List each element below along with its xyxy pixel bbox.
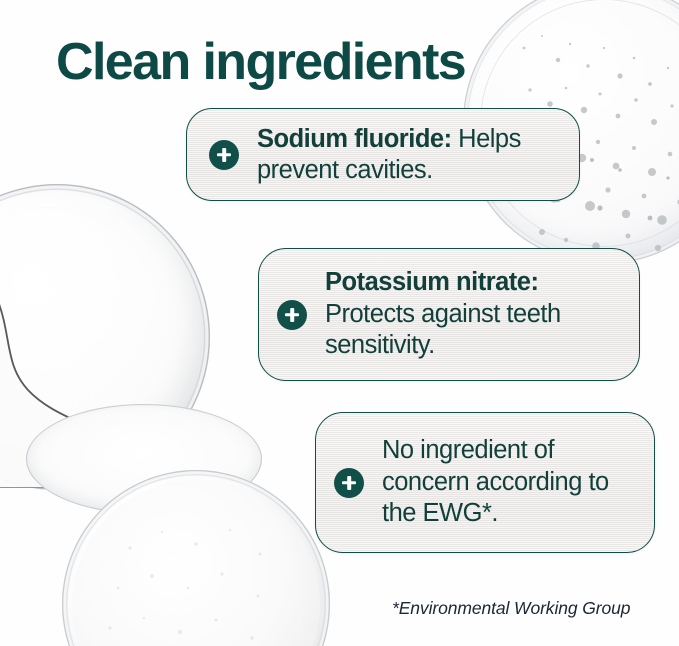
ingredient-name: Sodium fluoride: <box>257 125 452 153</box>
ingredient-card-text: Potassium nitrate: Protects against teet… <box>307 267 639 362</box>
petri-dish-white-powder-icon <box>62 470 330 646</box>
white-powder-texture <box>70 478 322 646</box>
page-title: Clean ingredients <box>56 33 465 91</box>
plus-icon <box>277 300 307 330</box>
ingredient-description: Protects against teeth sensitivity. <box>325 300 561 360</box>
clear-gel-blob <box>0 238 130 488</box>
ingredient-description: No ingredient of concern according to th… <box>382 436 609 527</box>
product-ingredients-infographic: Clean ingredients Sodium fluoride: Helps… <box>0 0 679 646</box>
ingredient-card-text: Sodium fluoride: Helps prevent cavities. <box>239 124 579 185</box>
ingredient-card-sodium-fluoride[interactable]: Sodium fluoride: Helps prevent cavities. <box>186 108 580 201</box>
petri-dish-rim-sliver <box>26 404 262 514</box>
ingredient-card-no-concern[interactable]: No ingredient of concern according to th… <box>315 412 655 553</box>
footnote: *Environmental Working Group <box>392 598 630 619</box>
ingredient-card-text: No ingredient of concern according to th… <box>364 435 654 530</box>
ingredient-card-potassium-nitrate[interactable]: Potassium nitrate: Protects against teet… <box>258 248 640 381</box>
plus-icon <box>209 140 239 170</box>
petri-dish-clear-gel-icon <box>0 184 210 490</box>
plus-icon <box>334 468 364 498</box>
ingredient-name: Potassium nitrate: <box>325 268 538 296</box>
